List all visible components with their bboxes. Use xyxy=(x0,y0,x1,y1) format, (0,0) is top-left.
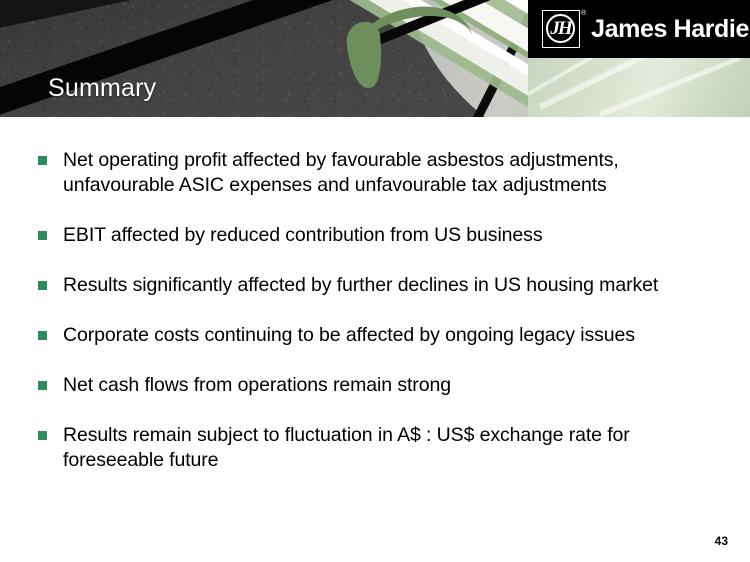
list-item-label: Corporate costs continuing to be affecte… xyxy=(63,324,635,346)
list-item: Net cash flows from operations remain st… xyxy=(36,373,726,398)
presentation-slide: JH ® James Hardie Summary Net operating … xyxy=(0,0,750,562)
bullet-square-icon xyxy=(38,281,47,290)
brand-logo-bar: JH ® James Hardie xyxy=(528,0,750,58)
list-item: Results significantly affected by furthe… xyxy=(36,273,726,298)
registered-trademark-icon: ® xyxy=(581,10,586,17)
list-item-label: Results significantly affected by furthe… xyxy=(63,274,658,296)
bullet-square-icon xyxy=(38,431,47,440)
slide-body: Net operating profit affected by favoura… xyxy=(0,117,750,562)
list-item: Corporate costs continuing to be affecte… xyxy=(36,323,726,348)
bullet-square-icon xyxy=(38,331,47,340)
bullet-square-icon xyxy=(38,156,47,165)
list-item-label: EBIT affected by reduced contribution fr… xyxy=(63,224,542,246)
slide-page-number: 43 xyxy=(715,534,728,548)
list-item: EBIT affected by reduced contribution fr… xyxy=(36,223,726,248)
brand-name: James Hardie xyxy=(591,15,749,44)
list-item: Net operating profit affected by favoura… xyxy=(36,148,726,198)
list-item: Results remain subject to fluctuation in… xyxy=(36,423,726,473)
list-item-label: Net operating profit affected by favoura… xyxy=(63,149,619,196)
bullet-square-icon xyxy=(38,231,47,240)
list-item-label: Results remain subject to fluctuation in… xyxy=(63,424,630,471)
bullet-square-icon xyxy=(38,381,47,390)
summary-bullet-list: Net operating profit affected by favoura… xyxy=(36,148,726,473)
monogram-letters: JH xyxy=(543,11,578,46)
page-title: Summary xyxy=(48,76,156,101)
james-hardie-monogram-icon: JH xyxy=(542,10,580,48)
list-item-label: Net cash flows from operations remain st… xyxy=(63,374,451,396)
